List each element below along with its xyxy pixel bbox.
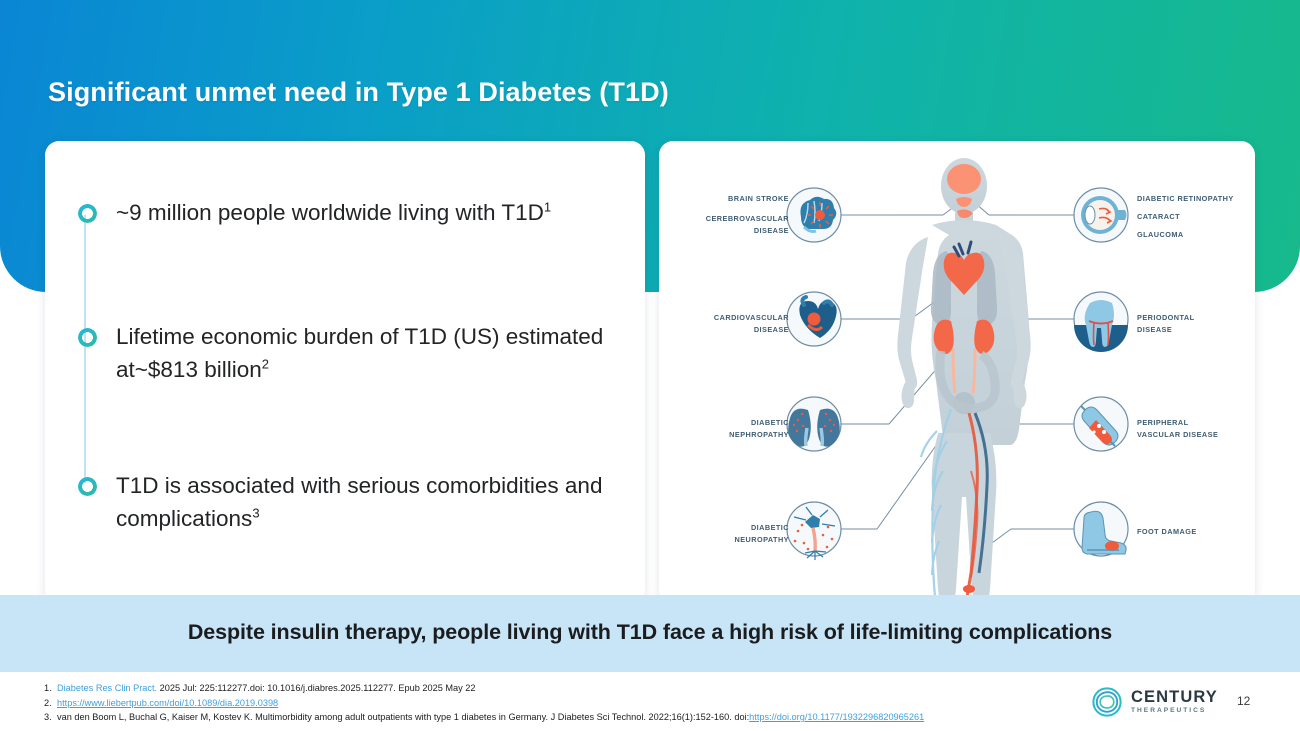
label-diabetic-neuropathy: DIABETICNEUROPATHY: [669, 522, 789, 545]
reference-number-1: 1.: [44, 681, 57, 696]
reference-text-3: van den Boom L, Buchal G, Kaiser M, Kost…: [57, 712, 749, 722]
heart-icon: [787, 292, 841, 346]
reference-link-2[interactable]: https://www.liebertpub.com/doi/10.1089/d…: [57, 698, 278, 708]
kidney-icon: [787, 397, 841, 451]
blood-vessel-icon: [1074, 397, 1128, 451]
foot-icon: [1074, 502, 1128, 556]
reference-number-2: 2.: [44, 696, 57, 711]
label-glaucoma: GLAUCOMA: [1137, 229, 1255, 241]
page-title: Significant unmet need in Type 1 Diabete…: [48, 77, 669, 108]
bullet-circle-icon: [78, 204, 97, 223]
complications-infographic: BRAIN STROKE CEREBROVASCULARDISEASE CARD…: [659, 141, 1255, 605]
banner-text: Despite insulin therapy, people living w…: [0, 620, 1300, 645]
neuron-icon: [787, 502, 841, 560]
reference-text-1: 2025 Jul: 225:112277.doi: 10.1016/j.diab…: [157, 683, 475, 693]
company-logo: CENTURY THERAPEUTICS: [1090, 685, 1218, 719]
human-body-silhouette: [897, 158, 1030, 603]
logo-wordmark: CENTURY THERAPEUTICS: [1131, 689, 1218, 714]
label-diabetic-retinopathy: DIABETIC RETINOPATHY: [1137, 193, 1255, 205]
superscript-ref-1: 1: [544, 200, 551, 215]
label-diabetic-nephropathy: DIABETICNEPHROPATHY: [669, 417, 789, 440]
reference-number-3: 3.: [44, 710, 57, 725]
tooth-icon: [1074, 292, 1128, 352]
century-ring-logo-icon: [1090, 685, 1124, 719]
label-periodontal-disease: PERIODONTALDISEASE: [1137, 312, 1255, 335]
label-cardiovascular-disease: CARDIOVASCULARDISEASE: [669, 312, 789, 335]
logo-company-subtitle: THERAPEUTICS: [1131, 708, 1218, 715]
label-brain-stroke: BRAIN STROKE: [669, 193, 789, 205]
reference-item-1: 1.Diabetes Res Clin Pract. 2025 Jul: 225…: [44, 681, 1044, 696]
label-peripheral-vascular-disease: PERIPHERALVASCULAR DISEASE: [1137, 417, 1255, 440]
bullet-circle-icon: [78, 328, 97, 347]
label-foot-damage: FOOT DAMAGE: [1137, 526, 1255, 538]
bullet-item-1: ~9 million people worldwide living with …: [78, 196, 618, 229]
reference-link-3[interactable]: https://doi.org/10.1177/1932296820965261: [749, 712, 924, 722]
eye-icon: [1074, 188, 1128, 242]
references-list: 1.Diabetes Res Clin Pract. 2025 Jul: 225…: [44, 681, 1044, 725]
logo-company-name: CENTURY: [1131, 689, 1218, 706]
bullet-circle-icon: [78, 477, 97, 496]
reference-item-3: 3.van den Boom L, Buchal G, Kaiser M, Ko…: [44, 710, 1044, 725]
label-cataract: CATARACT: [1137, 211, 1255, 223]
bullet-text-2: Lifetime economic burden of T1D (US) est…: [116, 320, 618, 386]
bullet-text-3: T1D is associated with serious comorbidi…: [116, 469, 618, 535]
page-number: 12: [1237, 694, 1250, 708]
superscript-ref-2: 2: [262, 357, 269, 372]
bullet-item-2: Lifetime economic burden of T1D (US) est…: [78, 320, 618, 386]
reference-link-1[interactable]: Diabetes Res Clin Pract.: [57, 683, 157, 693]
reference-item-2: 2.https://www.liebertpub.com/doi/10.1089…: [44, 696, 1044, 711]
bullet-text-1: ~9 million people worldwide living with …: [116, 196, 551, 229]
label-cerebrovascular-disease: CEREBROVASCULARDISEASE: [669, 213, 789, 236]
brain-icon: [787, 188, 841, 242]
superscript-ref-3: 3: [252, 506, 259, 521]
bullet-item-3: T1D is associated with serious comorbidi…: [78, 469, 618, 535]
